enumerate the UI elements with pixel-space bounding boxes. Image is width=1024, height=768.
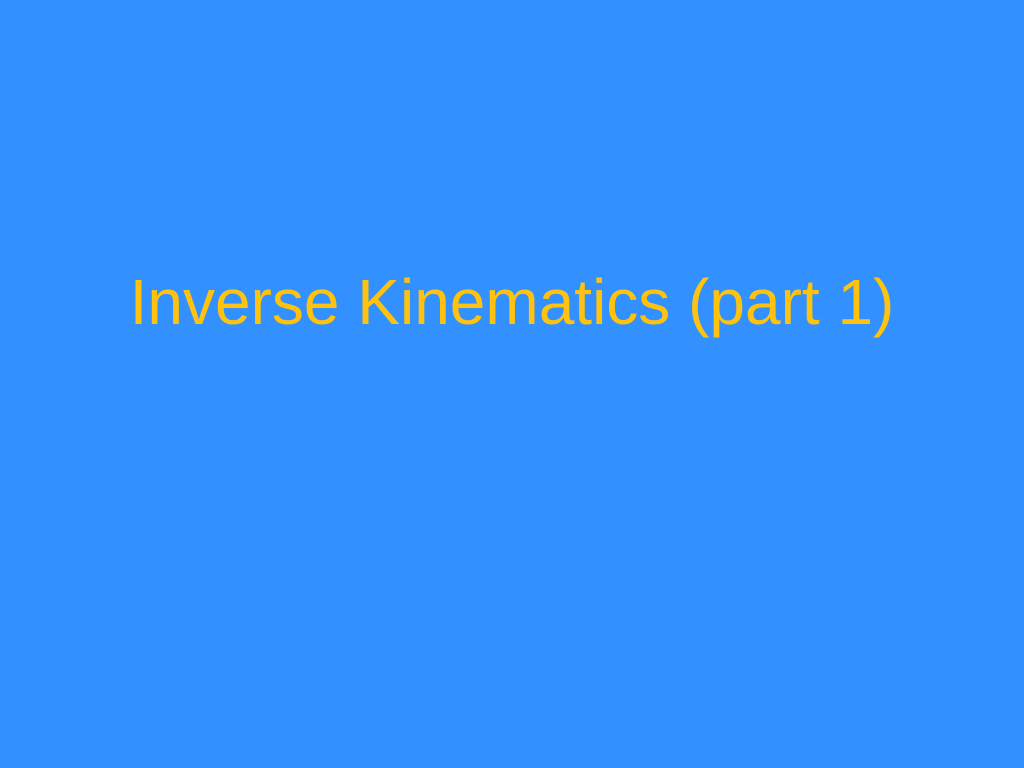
slide-canvas: Inverse Kinematics (part 1) xyxy=(0,0,1024,768)
title-placeholder: Inverse Kinematics (part 1) xyxy=(0,248,1024,358)
body-placeholder xyxy=(0,360,1024,768)
page-title: Inverse Kinematics (part 1) xyxy=(130,268,895,337)
